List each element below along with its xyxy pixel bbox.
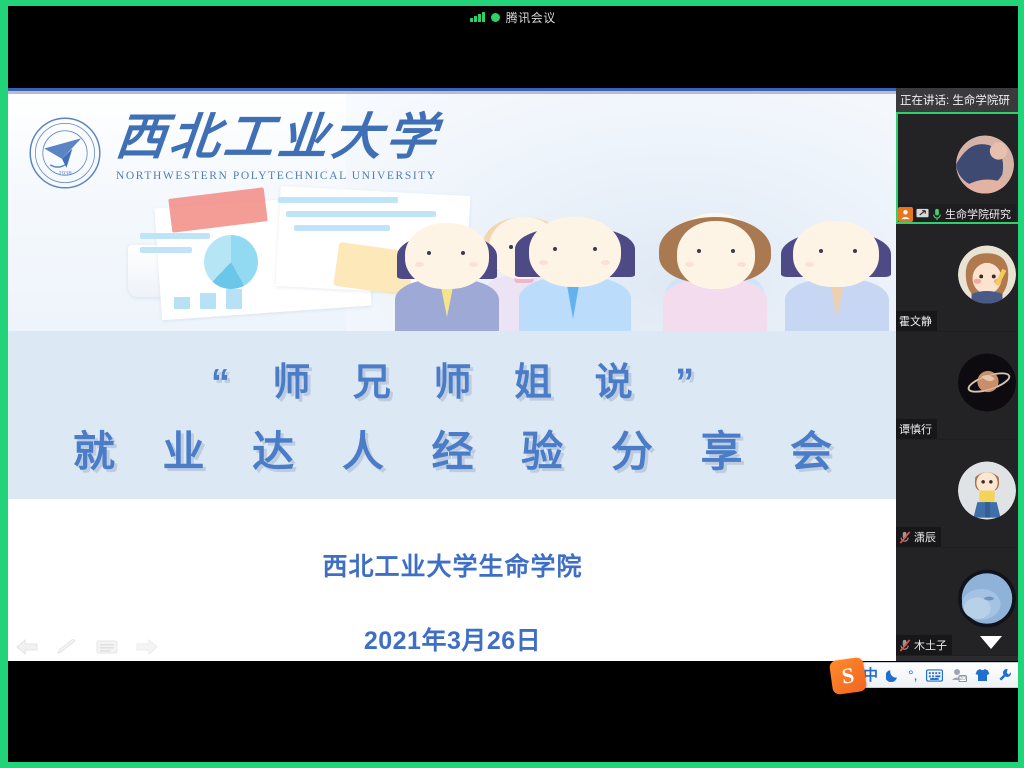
host-icon — [898, 207, 913, 222]
participant-name-0: 生命学院研究 — [945, 206, 1011, 222]
university-name-en: NORTHWESTERN POLYTECHNICAL UNIVERSITY — [116, 170, 446, 182]
sogou-logo-icon[interactable]: S — [829, 657, 867, 695]
prev-slide-button[interactable] — [16, 639, 38, 655]
university-name-block: 西北工业大学 NORTHWESTERN POLYTECHNICAL UNIVER… — [116, 112, 446, 182]
participant-name-bar-4: 木土子 — [896, 635, 952, 655]
bar-3 — [226, 289, 242, 309]
event-date-text: 2021年3月26日 — [364, 621, 541, 657]
slide-banner: 1938 西北工业大学 NORTHWESTERN POLYTECHNICAL U… — [8, 94, 897, 331]
participant-name-2: 谭慎行 — [899, 421, 932, 437]
doc-line-5 — [294, 225, 390, 231]
shirt-icon[interactable] — [975, 668, 990, 682]
bar-2 — [200, 293, 216, 309]
doc-line-1 — [140, 233, 210, 239]
tencent-meeting-badge[interactable]: 腾讯会议 — [470, 9, 556, 26]
signal-bars-icon — [470, 12, 485, 22]
mic-muted-icon — [899, 639, 911, 652]
participant-name-bar-0: 生命学院研究 — [896, 204, 1016, 224]
svg-text:1938: 1938 — [58, 170, 72, 177]
participant-name-bar-2: 谭慎行 — [896, 419, 937, 439]
sogou-ime-toolbar[interactable]: S 中 °, 2D — [836, 662, 1024, 688]
pen-tool-button[interactable] — [56, 639, 78, 655]
share-border-bottom — [0, 762, 1024, 768]
participant-tile-0[interactable]: 生命学院研究 — [896, 112, 1024, 224]
mic-on-icon — [932, 208, 942, 221]
slide-menu-button[interactable] — [96, 639, 118, 655]
avatar — [958, 569, 1016, 627]
slide-title-line-1: “ 师 兄 师 姐 说 ” — [195, 351, 710, 406]
university-seal-icon: 1938 — [28, 116, 102, 190]
mic-muted-icon — [899, 531, 911, 544]
university-name-cn: 西北工业大学 — [113, 112, 448, 162]
person-2d-icon[interactable]: 2D — [951, 668, 967, 682]
participant-name-1: 霍文静 — [899, 313, 932, 329]
recording-dot-icon — [491, 13, 500, 22]
meeting-app-name: 腾讯会议 — [506, 9, 556, 26]
next-slide-button[interactable] — [136, 639, 158, 655]
moon-mode-button[interactable] — [886, 668, 900, 682]
avatar — [958, 245, 1016, 303]
student-front-1 — [389, 205, 509, 331]
wrench-icon[interactable] — [998, 668, 1012, 682]
avatar — [958, 353, 1016, 411]
student-front-3 — [649, 201, 779, 331]
avatar — [958, 461, 1016, 519]
chevron-down-icon[interactable] — [980, 636, 1002, 649]
bar-1 — [174, 297, 190, 309]
svg-text:2D: 2D — [959, 676, 966, 682]
now-speaking-label: 正在讲话: 生命学院研 — [896, 88, 1024, 112]
organization-text: 西北工业大学生命学院 — [322, 547, 582, 583]
title-band: “ 师 兄 师 姐 说 ” 就 业 达 人 经 验 分 享 会 — [8, 331, 897, 499]
participant-tile-2[interactable]: 谭慎行 — [896, 332, 1024, 440]
ppt-navigation-controls[interactable] — [16, 639, 158, 655]
students-illustration — [377, 141, 897, 331]
participant-name-bar-3: 潇辰 — [896, 527, 941, 547]
pie-chart-shape — [204, 235, 258, 289]
participant-panel[interactable]: 正在讲话: 生命学院研 — [896, 88, 1024, 661]
participant-name-3: 潇辰 — [914, 529, 936, 545]
screen-share-icon — [916, 208, 929, 220]
participant-tile-1[interactable]: 霍文静 — [896, 224, 1024, 332]
share-border-left — [0, 0, 8, 768]
screen-root: 腾讯会议 — [0, 0, 1024, 768]
top-status-bar: 腾讯会议 — [8, 6, 1018, 28]
student-front-2 — [505, 195, 645, 331]
punctuation-mode-button[interactable]: °, — [908, 668, 918, 682]
student-front-4 — [775, 203, 895, 331]
participant-tile-4[interactable]: 木土子 — [896, 548, 1024, 656]
shared-slide[interactable]: 1938 西北工业大学 NORTHWESTERN POLYTECHNICAL U… — [8, 88, 897, 661]
slide-title-line-2: 就 业 达 人 经 验 分 享 会 — [55, 418, 850, 479]
participant-name-4: 木土子 — [914, 637, 947, 653]
doc-line-2 — [140, 247, 192, 253]
participant-name-bar-1: 霍文静 — [896, 311, 937, 331]
avatar — [956, 136, 1014, 194]
soft-keyboard-button[interactable] — [926, 669, 943, 682]
slide-footer-block: 西北工业大学生命学院 2021年3月26日 — [8, 499, 897, 661]
participant-tile-3[interactable]: 潇辰 — [896, 440, 1024, 548]
